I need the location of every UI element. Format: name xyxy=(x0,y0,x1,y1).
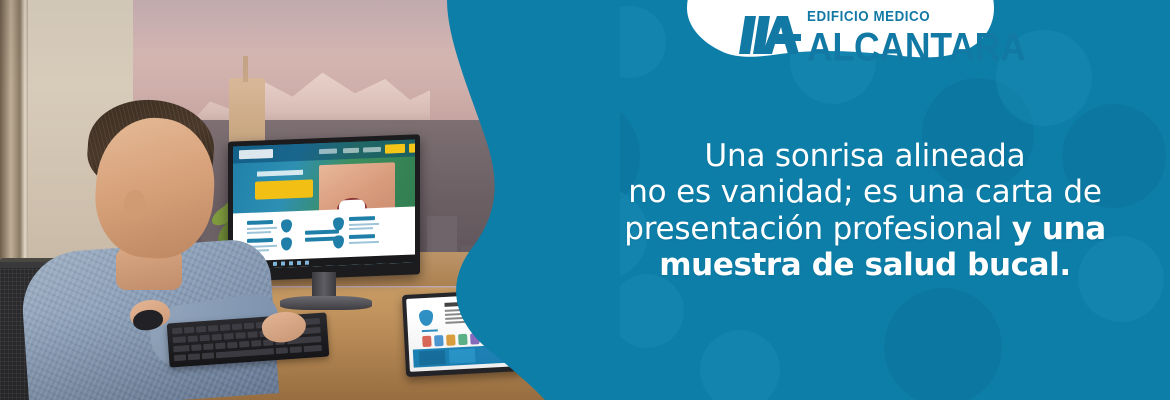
headline-line-3: presentación profesional y una xyxy=(560,211,1170,247)
bokeh-circle xyxy=(884,288,1002,400)
monitor-stand-base xyxy=(280,296,372,310)
headline-line-4: muestra de salud bucal. xyxy=(560,247,1170,283)
logo-tagline: EDIFICIO MEDICO xyxy=(807,10,1016,25)
headline-line-3-regular: presentación profesional xyxy=(624,211,1012,247)
headline-line-3-bold: y una xyxy=(1012,211,1106,247)
logo-text-block: EDIFICIO MEDICO ALCANTARA xyxy=(807,10,1035,63)
promo-banner: EDIFICIO MEDICO ALCANTARA Una sonrisa al… xyxy=(0,0,1170,400)
bokeh-circle xyxy=(610,274,684,348)
bokeh-circle xyxy=(594,6,666,78)
tablet-screen xyxy=(406,293,514,371)
headline-line-2: no es vanidad; es una carta de xyxy=(560,174,1170,210)
bokeh-circle xyxy=(700,330,780,400)
alcantara-monogram-icon xyxy=(739,14,801,56)
tablet-device xyxy=(402,289,524,377)
headline-line-1: Una sonrisa alineada xyxy=(560,138,1170,174)
monitor-screen xyxy=(233,140,415,270)
brand-logo[interactable]: EDIFICIO MEDICO ALCANTARA xyxy=(687,0,994,74)
logo-wordmark: ALCANTARA xyxy=(807,28,1026,66)
headline: Una sonrisa alineada no es vanidad; es u… xyxy=(560,138,1170,283)
person-ear xyxy=(124,190,146,220)
hero-photo xyxy=(0,0,560,400)
